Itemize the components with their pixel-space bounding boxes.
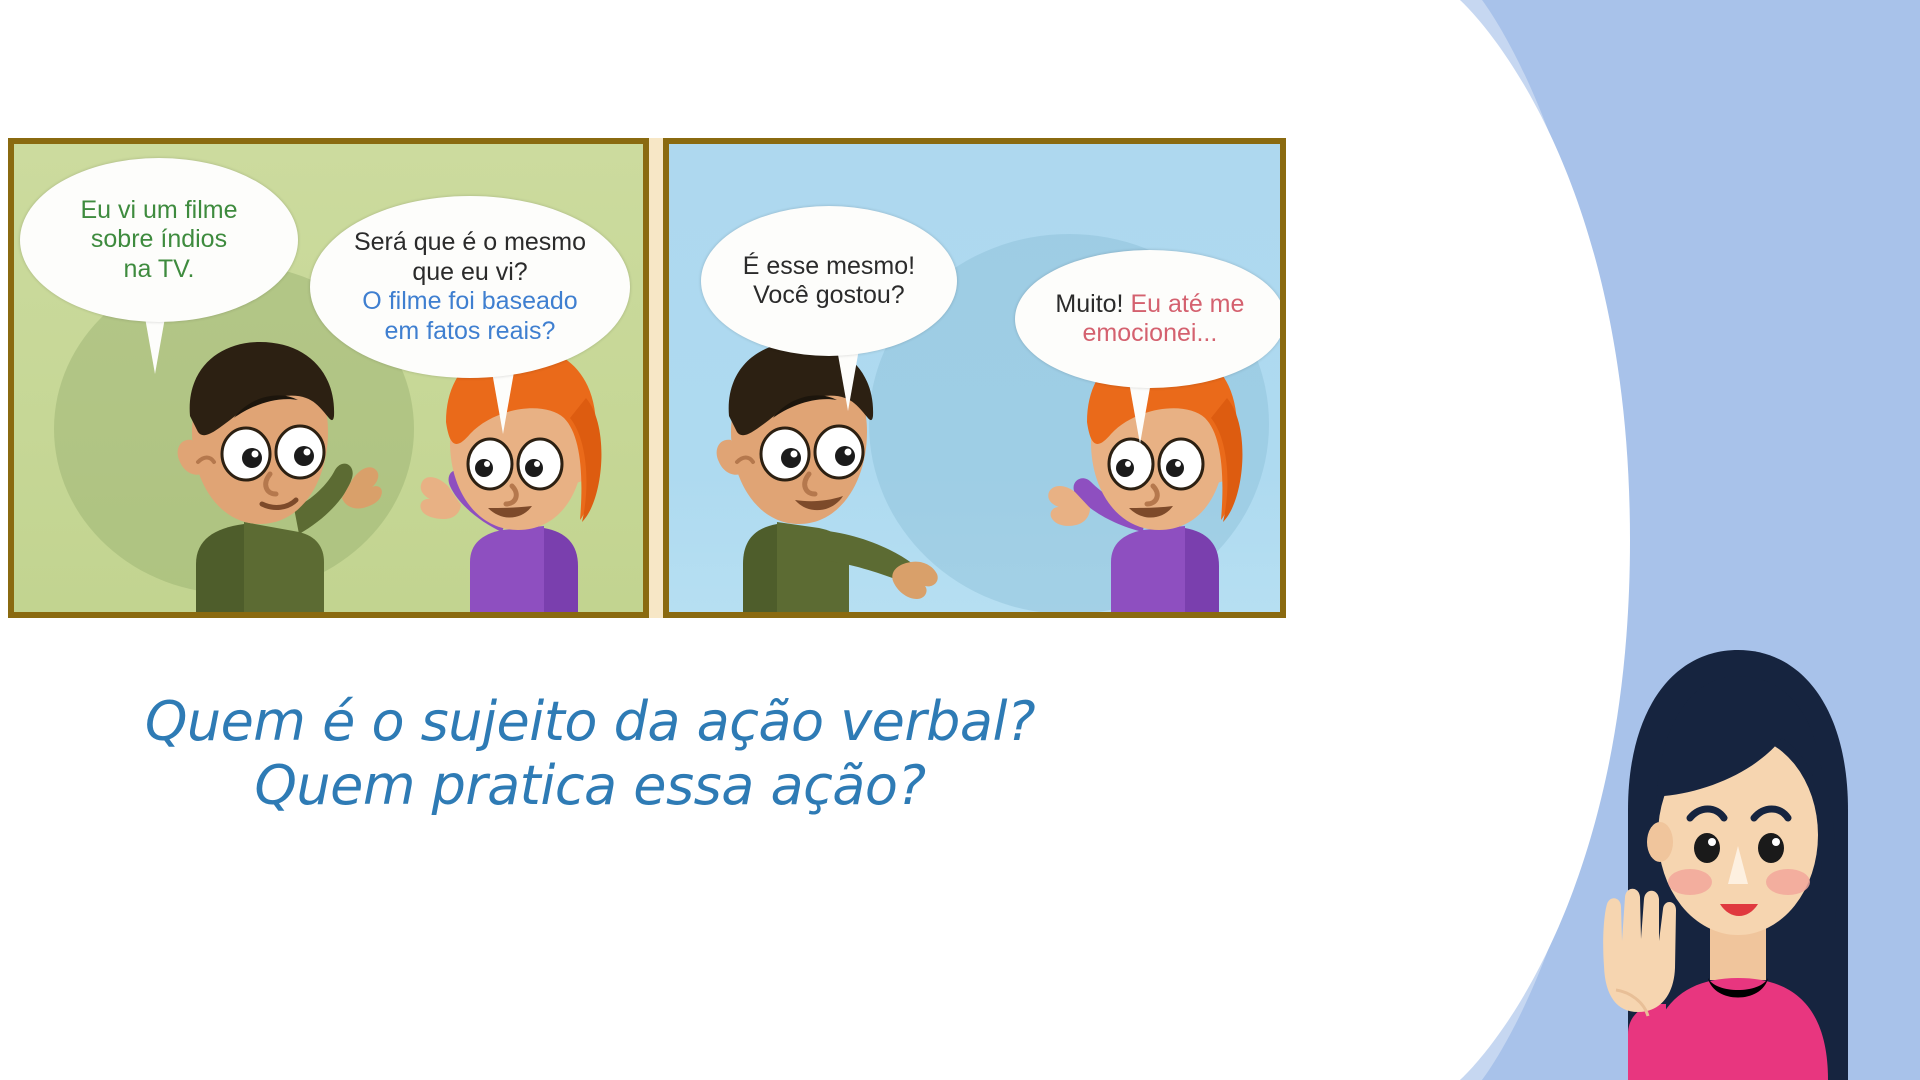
bubble-boy-1-line-2: sobre índios: [91, 225, 227, 255]
character-boy-left: [94, 312, 394, 612]
girl-eye-left-glint: [1708, 838, 1716, 846]
bubble-tail-girl-2: [1129, 382, 1151, 444]
bubble-boy-2-line-2: Você gostou?: [753, 281, 905, 311]
question-line-2: Quem pratica essa ação?: [0, 754, 1180, 818]
bubble-girl-2-accent-line-1: Eu até me: [1130, 290, 1244, 318]
comic-panel-left: Eu vi um filme sobre índios na TV. Será …: [8, 138, 649, 618]
girl-eye-right: [1758, 833, 1784, 863]
bubble-boy-1-line-3: na TV.: [124, 255, 195, 285]
comic-strip: Eu vi um filme sobre índios na TV. Será …: [8, 138, 1286, 618]
bubble-boy-2: É esse mesmo! Você gostou?: [701, 206, 957, 356]
bubble-girl-2-accent-line-2: emocionei...: [1083, 319, 1218, 349]
waving-girl-svg: [1568, 610, 1898, 1080]
bubble-boy-2-line-1: É esse mesmo!: [743, 252, 915, 282]
bubble-girl-2-lead: Muito!: [1055, 290, 1123, 318]
bubble-girl-1: Será que é o mesmo que eu vi? O filme fo…: [310, 196, 630, 378]
bubble-boy-1-line-1: Eu vi um filme: [81, 196, 238, 226]
question-text: Quem é o sujeito da ação verbal? Quem pr…: [0, 690, 1180, 817]
girl-blush-right: [1766, 869, 1810, 895]
bubble-tail-girl-1: [492, 372, 514, 434]
character-boy-right: [699, 312, 1029, 612]
girl-eye-right-glint: [1772, 838, 1780, 846]
girl-blush-left: [1668, 869, 1712, 895]
question-line-1: Quem é o sujeito da ação verbal?: [0, 690, 1180, 754]
bubble-girl-1-line-2: que eu vi?: [412, 258, 527, 288]
bubble-girl-1-accent-line-1: O filme foi baseado: [362, 287, 577, 317]
bubble-girl-2: Muito! Eu até me emocionei...: [1015, 250, 1285, 388]
bubble-girl-2-line-1: Muito! Eu até me: [1055, 290, 1244, 320]
bubble-girl-1-line-1: Será que é o mesmo: [354, 228, 586, 258]
illustration-waving-girl: [1568, 610, 1898, 1080]
bubble-boy-1: Eu vi um filme sobre índios na TV.: [20, 158, 298, 322]
girl-waving-hand: [1603, 889, 1676, 1012]
girl-ear: [1647, 822, 1673, 862]
bubble-girl-1-accent-line-2: em fatos reais?: [385, 317, 556, 347]
bubble-tail-boy-2: [837, 349, 859, 411]
comic-panel-right: É esse mesmo! Você gostou? Muito! Eu até…: [663, 138, 1286, 618]
girl-eye-left: [1694, 833, 1720, 863]
